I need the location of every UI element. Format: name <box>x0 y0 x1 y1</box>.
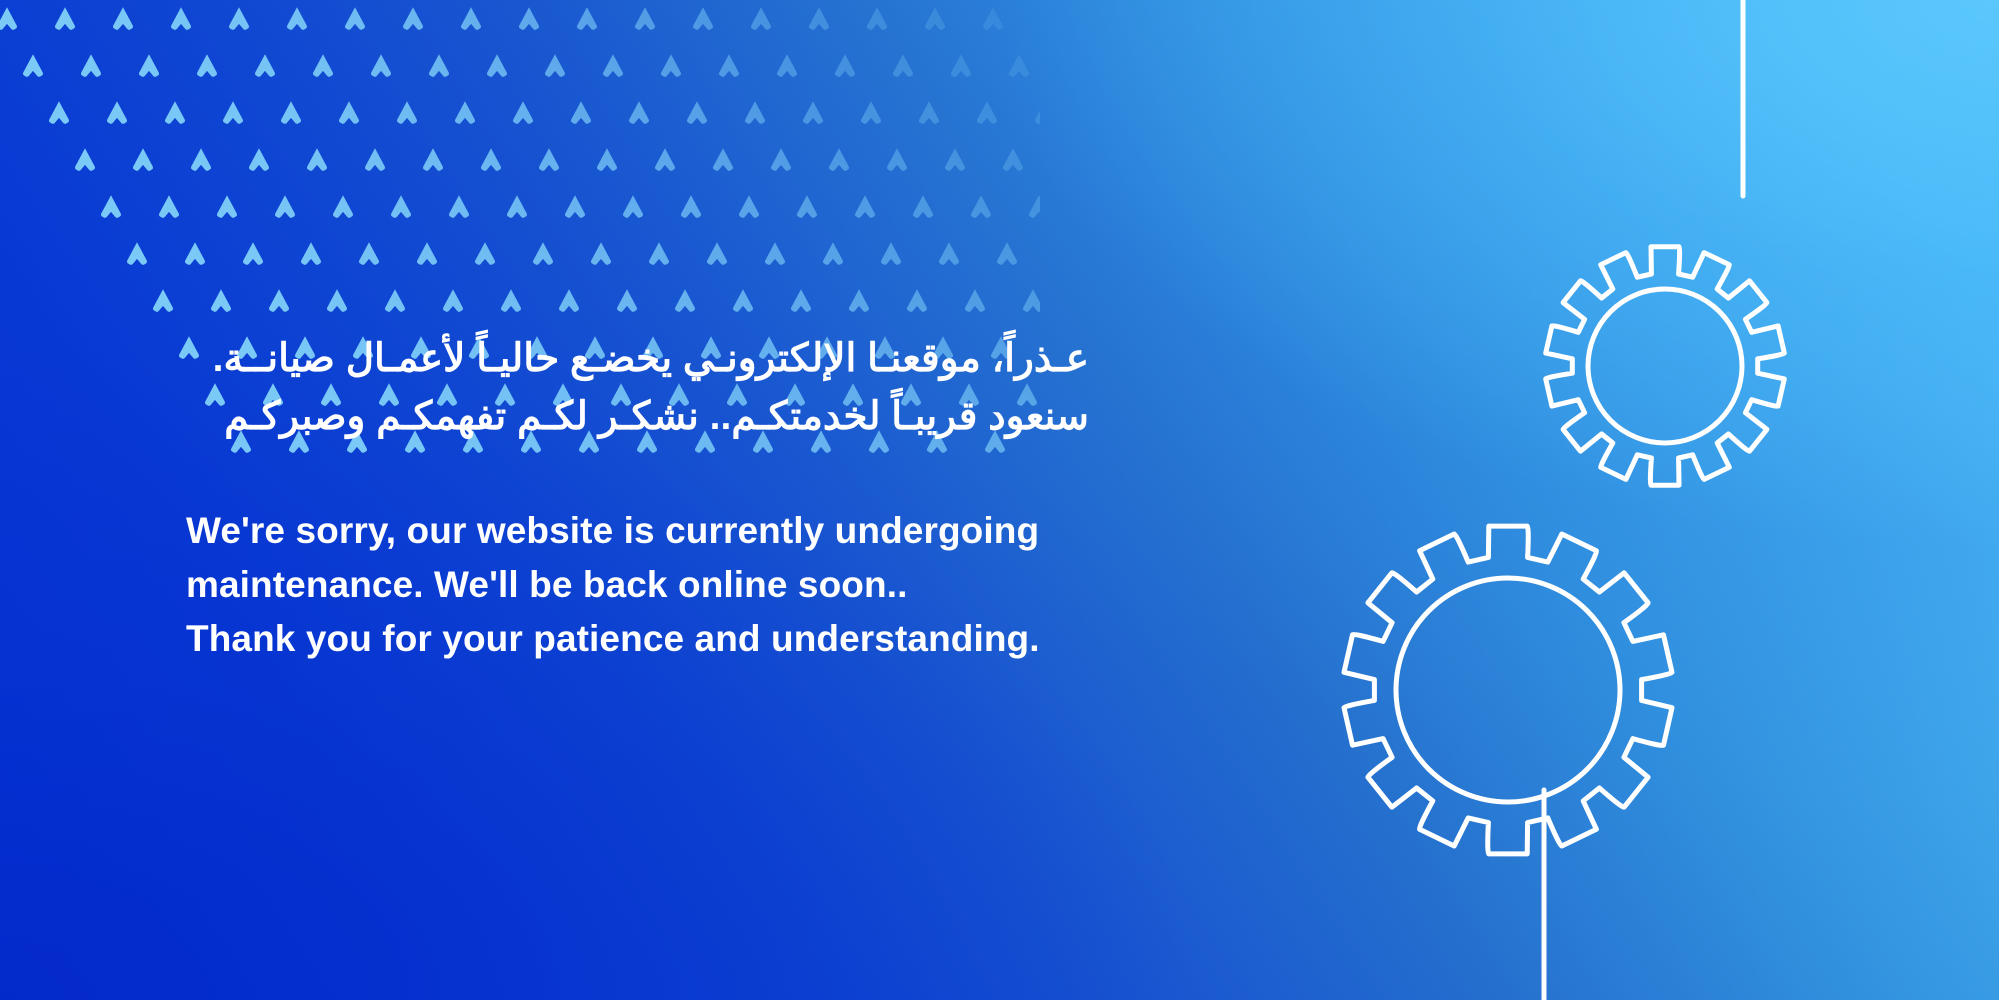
english-message: We're sorry, our website is currently un… <box>186 504 1186 666</box>
english-line-1: We're sorry, our website is currently un… <box>186 504 1186 558</box>
english-line-3: Thank you for your patience and understa… <box>186 612 1186 666</box>
english-line-2: maintenance. We'll be back online soon.. <box>186 558 1186 612</box>
arabic-message: عـذراً، موقعنـا الإلكترونـي يخضـع حاليـا… <box>186 330 1089 446</box>
arabic-line-2: سنعود قريبـاً لخدمتكـم.. نشكـر لكـم تفهم… <box>186 388 1089 446</box>
maintenance-message: عـذراً، موقعنـا الإلكترونـي يخضـع حاليـا… <box>186 330 1186 666</box>
arabic-line-1: عـذراً، موقعنـا الإلكترونـي يخضـع حاليـا… <box>186 330 1089 388</box>
maintenance-page: عـذراً، موقعنـا الإلكترونـي يخضـع حاليـا… <box>0 0 1999 1000</box>
